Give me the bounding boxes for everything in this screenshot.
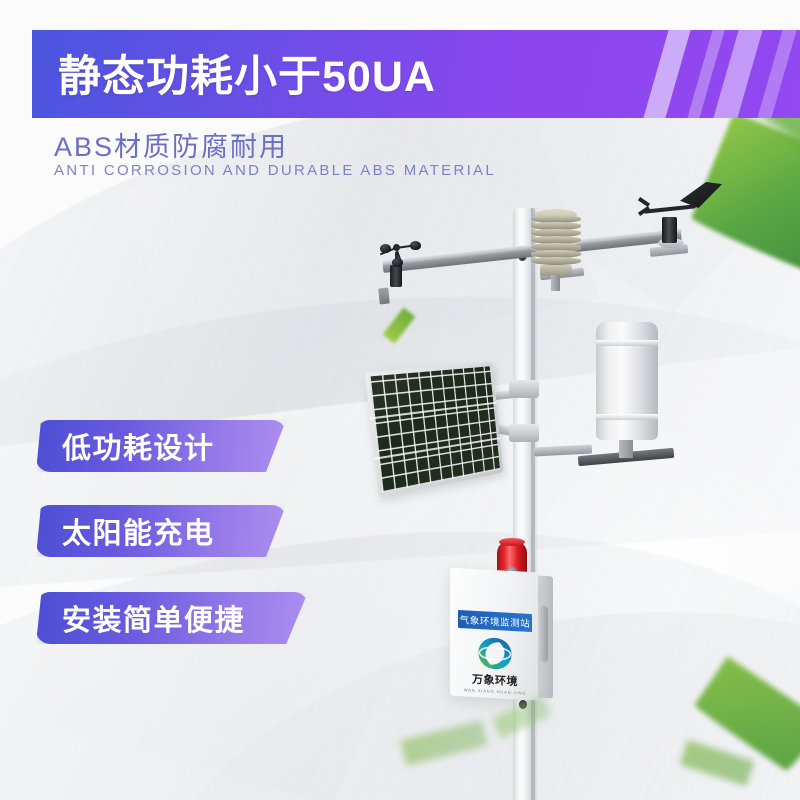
- product-banner-image: 气象环境监测站: [0, 0, 800, 800]
- feature-pill-1: 太阳能充电: [36, 505, 286, 557]
- rain-gauge-seam: [596, 340, 658, 346]
- headline-title: 静态功耗小于50UA: [58, 42, 436, 104]
- shield-plate: [531, 257, 581, 265]
- solar-panel-cells: [369, 366, 500, 492]
- subtitle-english: ANTI CORROSION AND DURABLE ABS MATERIAL: [54, 162, 496, 179]
- feature-pill-label: 太阳能充电: [62, 510, 215, 552]
- pole-clamp: [509, 424, 539, 442]
- brand-name-cn: 万象环境: [472, 671, 518, 690]
- pole-clamp: [509, 380, 539, 398]
- rain-gauge-seam: [596, 414, 658, 420]
- controller-box-latch: [540, 606, 548, 662]
- feature-pill-0: 低功耗设计: [36, 420, 286, 472]
- solar-panel-busbar: [370, 402, 497, 420]
- wind-vane-counterweight: [638, 197, 650, 207]
- anemometer-cup: [380, 244, 391, 253]
- solar-panel-busbar: [374, 437, 500, 460]
- headline-banner: 静态功耗小于50UA: [32, 30, 800, 118]
- cross-arm-end-cap: [378, 288, 390, 305]
- radiation-shield-stem: [551, 275, 560, 291]
- subtitle-chinese: ABS材质防腐耐用: [54, 125, 288, 164]
- beacon-dome-top: [499, 538, 525, 546]
- product-label-text: 气象环境监测站: [460, 612, 531, 630]
- wind-vane-tail-fin: [680, 182, 722, 208]
- weather-station-product-image: 气象环境监测站: [0, 0, 800, 800]
- wind-vane-arm: [644, 204, 696, 213]
- feature-pill-label: 安装简单便捷: [62, 597, 245, 639]
- brand-logo: 万象环境 WAN XIANG HUAN JING: [462, 634, 528, 696]
- radiation-shield: [531, 215, 581, 267]
- anemometer-hub: [393, 244, 400, 251]
- rain-gauge-stem: [619, 438, 633, 458]
- wind-vane-body: [662, 217, 677, 243]
- anemometer-body: [390, 265, 402, 287]
- anemometer-cup: [392, 258, 403, 267]
- feature-pill-label: 低功耗设计: [62, 425, 215, 467]
- anemometer-cup: [410, 241, 421, 250]
- globe-logo-icon: [475, 635, 515, 672]
- feature-pill-2: 安装简单便捷: [36, 592, 308, 644]
- solar-panel: [365, 362, 504, 497]
